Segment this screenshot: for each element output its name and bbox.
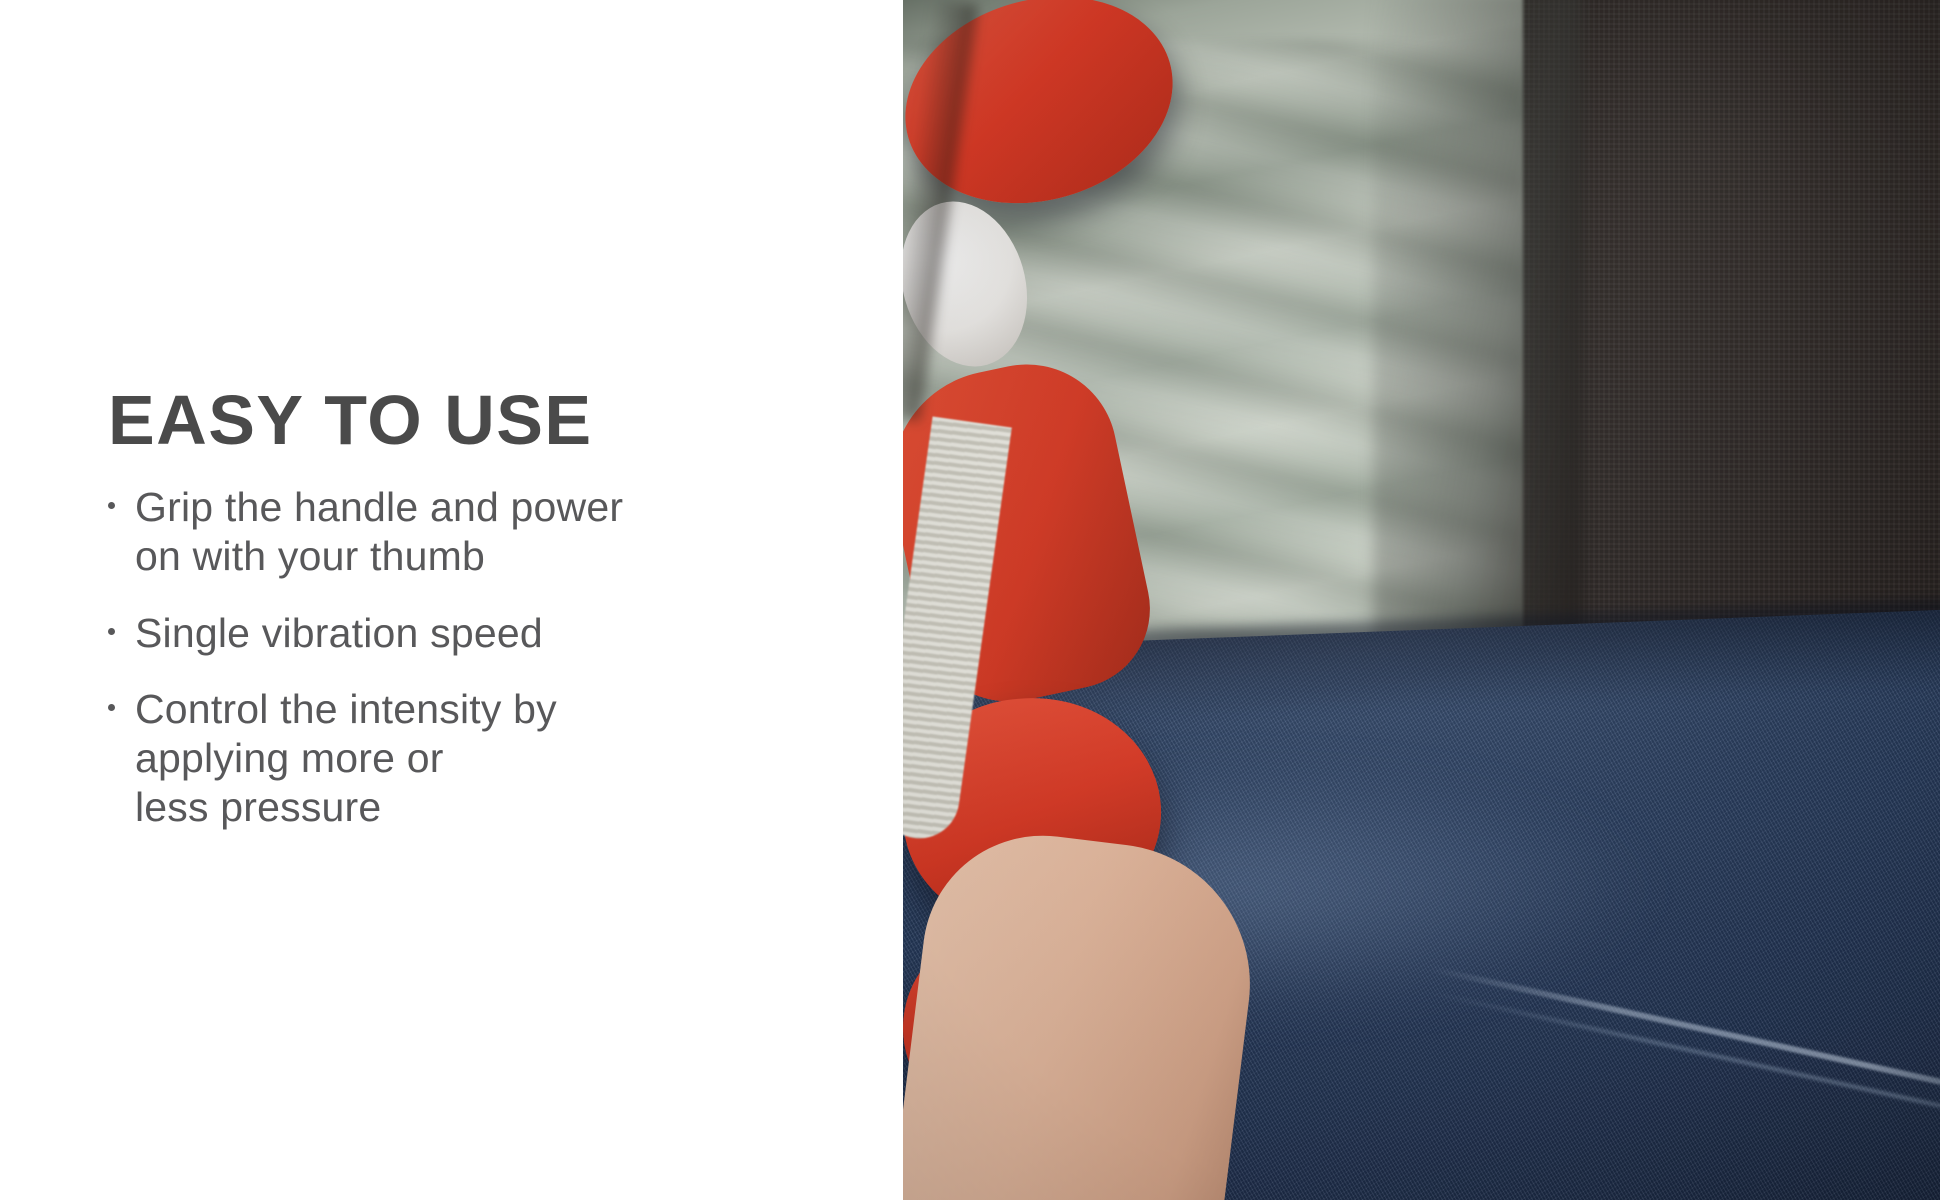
sleeve-cuff-shadow xyxy=(903,0,978,421)
bullet-line: Single vibration speed xyxy=(135,609,828,658)
copy-block: EASY TO USE Grip the handle and power on… xyxy=(108,385,828,832)
list-item: Control the intensity by applying more o… xyxy=(108,685,828,831)
bullet-line: applying more or xyxy=(135,734,828,783)
forearm xyxy=(903,822,1266,1200)
list-item: Single vibration speed xyxy=(108,609,828,658)
page-title: EASY TO USE xyxy=(108,385,828,455)
list-item: Grip the handle and power on with your t… xyxy=(108,483,828,581)
bullet-line: Grip the handle and power xyxy=(135,483,828,532)
sleeve-cuff xyxy=(903,416,1012,843)
bullet-dot-icon xyxy=(108,704,115,711)
bullet-line: Control the intensity by xyxy=(135,685,828,734)
promo-banner: EASY TO USE Grip the handle and power on… xyxy=(0,0,1940,1200)
bullet-dot-icon xyxy=(108,628,115,635)
text-panel: EASY TO USE Grip the handle and power on… xyxy=(0,0,903,1200)
bullet-line: on with your thumb xyxy=(135,532,828,581)
hand xyxy=(903,0,1940,1200)
bullet-dot-icon xyxy=(108,502,115,509)
bullet-line: less pressure xyxy=(135,783,828,832)
product-photo xyxy=(903,0,1940,1200)
feature-bullet-list: Grip the handle and power on with your t… xyxy=(108,483,828,832)
